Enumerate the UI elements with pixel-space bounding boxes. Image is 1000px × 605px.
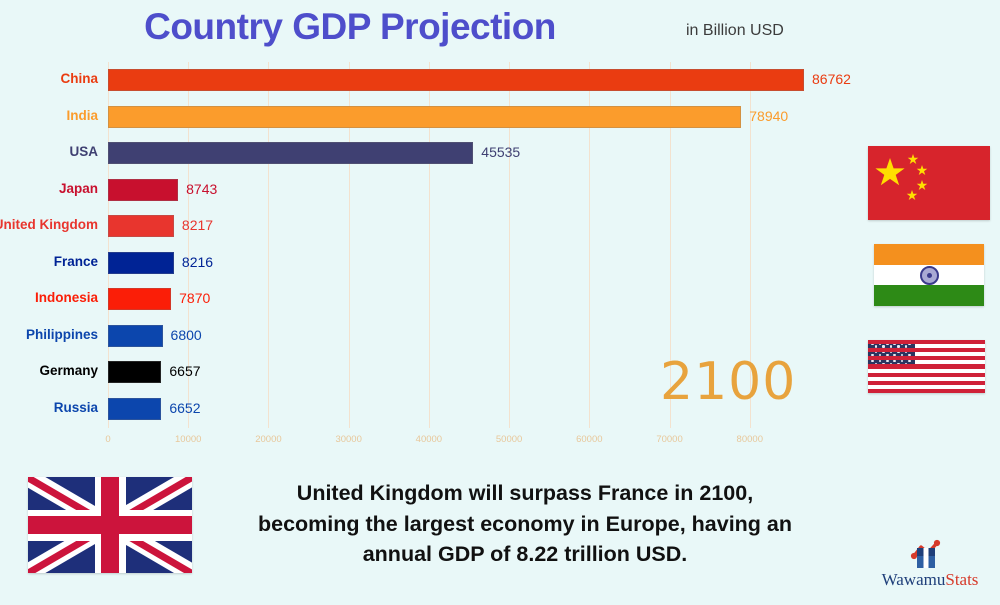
chart-bar-row[interactable]: France8216	[108, 245, 830, 282]
bar-value-label: 6800	[171, 324, 202, 346]
china-flag	[868, 146, 990, 220]
chart-bar[interactable]	[108, 215, 174, 237]
x-axis-tick-label: 10000	[175, 434, 201, 445]
chart-units-subtitle: in Billion USD	[686, 22, 784, 40]
year-display: 2100	[660, 352, 796, 412]
bar-category-label: China	[60, 68, 98, 90]
x-axis-tick-label: 50000	[496, 434, 522, 445]
chart-bar-row[interactable]: India78940	[108, 99, 830, 136]
ashoka-chakra-icon	[920, 266, 939, 285]
chart-bar-row[interactable]: USA45535	[108, 135, 830, 172]
bar-category-label: USA	[69, 141, 98, 163]
bar-value-label: 6652	[169, 397, 200, 419]
infographic-root: Country GDP Projection in Billion USD 01…	[0, 0, 1000, 605]
wawamustats-logo: WawamuStats	[868, 534, 992, 596]
usa-flag-stripe	[868, 381, 985, 385]
usa-flag-stripe	[868, 364, 985, 368]
x-axis-tick-label: 0	[105, 434, 110, 445]
caption-text: United Kingdom will surpass France in 21…	[215, 478, 835, 570]
usa-flag-stripe	[868, 340, 985, 344]
chart-bar[interactable]	[108, 179, 178, 201]
bar-value-label: 8216	[182, 251, 213, 273]
chart-bar-row[interactable]: Japan8743	[108, 172, 830, 209]
bar-category-label: Japan	[59, 178, 98, 200]
chart-bar[interactable]	[108, 106, 741, 128]
logo-word-stats: Stats	[945, 570, 978, 589]
chart-bar[interactable]	[108, 325, 163, 347]
bar-category-label: Russia	[54, 397, 98, 419]
logo-wordmark: WawamuStats	[868, 570, 992, 590]
india-flag-green-band	[874, 285, 984, 306]
chart-bar[interactable]	[108, 361, 161, 383]
x-axis-tick-label: 80000	[737, 434, 763, 445]
usa-flag	[868, 340, 985, 393]
logo-word-wawamu: Wawamu	[882, 570, 946, 589]
caption-line-2: becoming the largest economy in Europe, …	[215, 509, 835, 540]
united-kingdom-flag	[28, 477, 192, 573]
page-title: Country GDP Projection	[0, 6, 700, 48]
bar-category-label: India	[66, 105, 98, 127]
uk-flag-cross-red-vertical	[101, 477, 119, 573]
bar-category-label: Germany	[39, 360, 98, 382]
bar-category-label: United Kingdom	[0, 214, 98, 236]
x-axis-tick-label: 40000	[416, 434, 442, 445]
bar-value-label: 8217	[182, 214, 213, 236]
bar-value-label: 6657	[169, 360, 200, 382]
chart-bar[interactable]	[108, 288, 171, 310]
x-axis-tick-label: 30000	[335, 434, 361, 445]
bar-category-label: France	[54, 251, 98, 273]
caption-line-3: annual GDP of 8.22 trillion USD.	[215, 539, 835, 570]
chart-bar-row[interactable]: Philippines6800	[108, 318, 830, 355]
chart-bar[interactable]	[108, 252, 174, 274]
caption-line-1: United Kingdom will surpass France in 21…	[215, 478, 835, 509]
chart-bar[interactable]	[108, 398, 161, 420]
x-axis-tick-label: 20000	[255, 434, 281, 445]
bar-value-label: 78940	[749, 105, 788, 127]
bar-chart-trendline-icon	[904, 534, 948, 570]
chart-bar-row[interactable]: United Kingdom8217	[108, 208, 830, 245]
india-flag-saffron-band	[874, 244, 984, 265]
bar-category-label: Indonesia	[35, 287, 98, 309]
chart-bar-row[interactable]: China86762	[108, 62, 830, 99]
usa-flag-stripe	[868, 356, 985, 360]
bar-value-label: 7870	[179, 287, 210, 309]
usa-flag-stripe	[868, 348, 985, 352]
usa-flag-stripe	[868, 389, 985, 393]
usa-flag-stripe	[868, 373, 985, 377]
x-axis-tick-label: 70000	[656, 434, 682, 445]
chart-bar[interactable]	[108, 69, 804, 91]
india-flag	[874, 244, 984, 306]
bar-value-label: 8743	[186, 178, 217, 200]
bar-category-label: Philippines	[26, 324, 98, 346]
chart-bar[interactable]	[108, 142, 473, 164]
bar-value-label: 86762	[812, 68, 851, 90]
chart-bar-row[interactable]: Indonesia7870	[108, 281, 830, 318]
bar-value-label: 45535	[481, 141, 520, 163]
x-axis-tick-label: 60000	[576, 434, 602, 445]
